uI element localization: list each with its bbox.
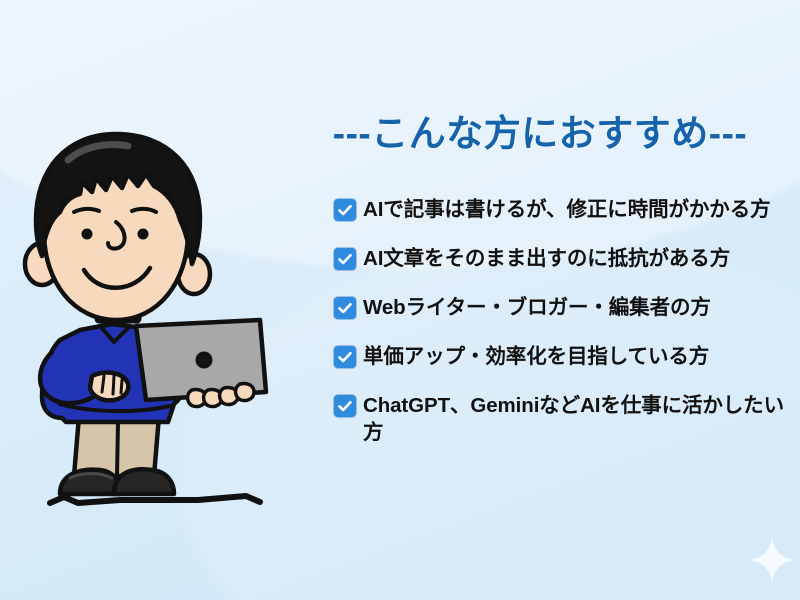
checkbox-checked-icon[interactable] <box>334 395 356 417</box>
checklist: AIで記事は書けるが、修正に時間がかかる方 AI文章をそのまま出すのに抵抗がある… <box>334 196 796 446</box>
checklist-item-label: AI文章をそのまま出すのに抵抗がある方 <box>363 245 730 272</box>
checklist-item[interactable]: 単価アップ・効率化を目指している方 <box>334 343 796 370</box>
checklist-item[interactable]: AI文章をそのまま出すのに抵抗がある方 <box>334 245 796 272</box>
man-holding-laptop-illustration <box>8 104 308 524</box>
checklist-item-label: AIで記事は書けるが、修正に時間がかかる方 <box>363 196 771 223</box>
page-title: ---こんな方におすすめ--- <box>292 103 788 157</box>
checklist-item[interactable]: AIで記事は書けるが、修正に時間がかかる方 <box>334 196 796 223</box>
checkbox-checked-icon[interactable] <box>334 248 356 270</box>
checklist-item[interactable]: Webライター・ブロガー・編集者の方 <box>334 294 796 321</box>
checkbox-checked-icon[interactable] <box>334 346 356 368</box>
sparkle-star-icon <box>748 536 796 584</box>
slide-canvas: ---こんな方におすすめ--- AIで記事は書けるが、修正に時間がかかる方 AI… <box>0 0 800 600</box>
checklist-item-label: Webライター・ブロガー・編集者の方 <box>363 294 711 321</box>
checklist-item[interactable]: ChatGPT、GeminiなどAIを仕事に活かしたい方 <box>334 392 796 446</box>
checkbox-checked-icon[interactable] <box>334 297 356 319</box>
checklist-item-label: ChatGPT、GeminiなどAIを仕事に活かしたい方 <box>363 392 796 446</box>
checklist-item-label: 単価アップ・効率化を目指している方 <box>363 343 709 370</box>
checkbox-checked-icon[interactable] <box>334 199 356 221</box>
